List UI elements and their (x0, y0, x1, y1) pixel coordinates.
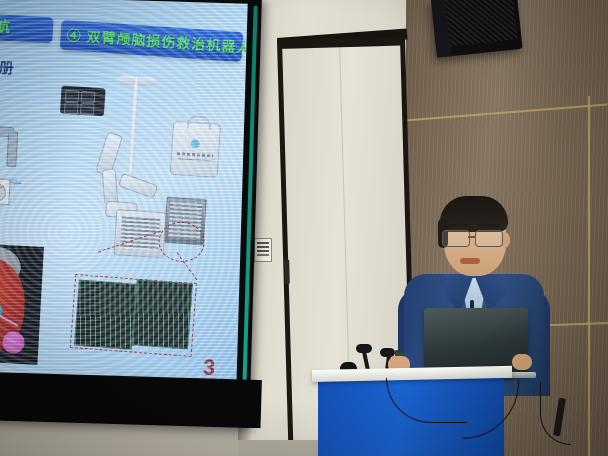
floor (238, 440, 330, 456)
door-handle[interactable] (284, 260, 290, 284)
presentation-photo-scene: 自主导航 ④ 双臂颅脑损伤救治机器人 空间注册 渲染 tracking syst… (0, 0, 608, 456)
slide-title-banner: ④ 双臂颅脑损伤救治机器人 (60, 20, 244, 62)
slide-content: 自主导航 ④ 双臂颅脑损伤救治机器人 空间注册 渲染 tracking syst… (0, 0, 248, 394)
glasses-bridge (468, 236, 475, 238)
speaker-icon (431, 0, 523, 58)
case-handle (187, 115, 212, 131)
slide-tab-left-label: 自主导航 (0, 11, 54, 43)
hand (512, 354, 532, 370)
gold-trim-line (588, 96, 590, 456)
wall-notice-sign (254, 238, 272, 262)
glasses-lens (442, 230, 470, 247)
slide-number: 3 (202, 354, 216, 381)
3d-brain-render (0, 242, 44, 365)
endoscope-image (74, 280, 137, 350)
robot-link (118, 173, 158, 199)
speaker-mesh (445, 0, 518, 46)
robot-link (102, 169, 119, 206)
glasses-icon (442, 230, 508, 245)
slide-subtitle-registration: 空间注册 (0, 54, 14, 78)
glasses-lens (475, 230, 503, 247)
brain-target-sphere (2, 331, 25, 354)
presentation-screen[interactable]: 自主导航 ④ 双臂颅脑损伤救治机器人 空间注册 渲染 tracking syst… (0, 0, 262, 428)
transport-case (170, 121, 221, 178)
endoscope-image (132, 279, 193, 349)
screen-lower-bezel (0, 372, 262, 428)
mouth (460, 258, 480, 264)
slide-title-label: ④ 双臂颅脑损伤救治机器人 (60, 20, 244, 62)
case-logo (190, 139, 200, 149)
surgical-robot-arm (94, 76, 170, 230)
registration-thumbnail (0, 178, 11, 206)
case-text (177, 152, 213, 157)
robot-column (128, 78, 139, 174)
slide-tab-left: 自主导航 (0, 11, 54, 43)
arm-segment (6, 131, 18, 168)
control-panel (60, 86, 106, 117)
